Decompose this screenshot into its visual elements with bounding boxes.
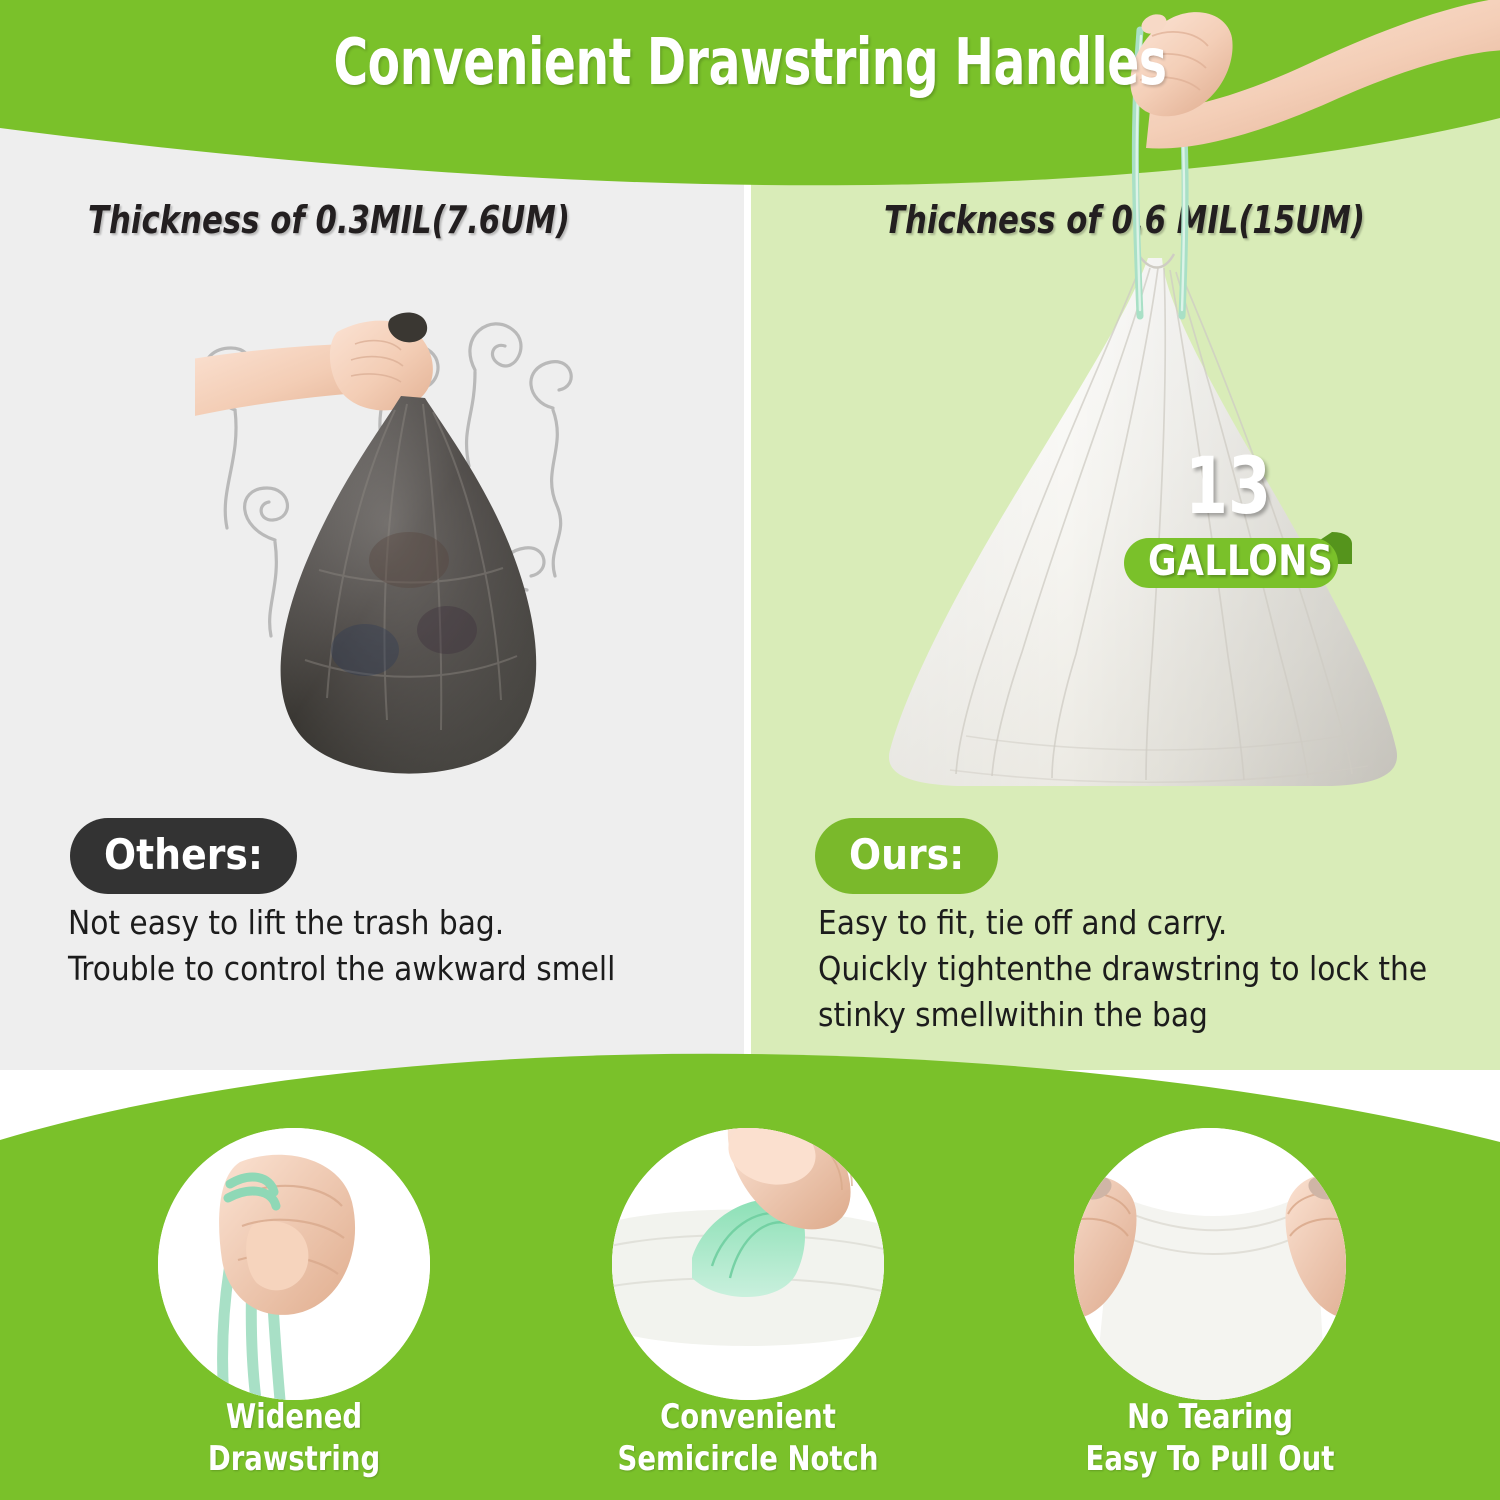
capacity-number: 13 xyxy=(1185,448,1271,526)
feature-photo-no-tearing xyxy=(1074,1128,1346,1400)
feature-caption-semicircle-notch: Convenient Semicircle Notch xyxy=(568,1396,928,1480)
photo-hand-holding-black-trash-bag xyxy=(195,300,595,780)
feature-caption-widened-drawstring: Widened Drawstring xyxy=(132,1396,456,1480)
feature-photo-widened-drawstring xyxy=(158,1128,430,1400)
badge-ours: Ours: xyxy=(815,818,998,894)
feature-caption-no-tearing: No Tearing Easy To Pull Out xyxy=(1030,1396,1390,1480)
illustration-thumb-pulling-notch xyxy=(612,1128,884,1400)
page-title: Convenient Drawstring Handles xyxy=(135,26,1365,100)
feature-photo-semicircle-notch xyxy=(612,1128,884,1400)
infographic-canvas: Convenient Drawstring Handles Thickness … xyxy=(0,0,1500,1500)
illustration-hand-gripping-drawstring xyxy=(158,1128,430,1400)
badge-others: Others: xyxy=(70,818,297,894)
description-others: Not easy to lift the trash bag. Trouble … xyxy=(68,900,728,992)
description-ours: Easy to fit, tie off and carry. Quickly … xyxy=(818,900,1458,1038)
capacity-unit: GALLONS xyxy=(1148,540,1333,582)
thickness-label-others: Thickness of 0.3MIL(7.6UM) xyxy=(88,198,570,242)
illustration-hands-stretching-film xyxy=(1074,1128,1346,1400)
